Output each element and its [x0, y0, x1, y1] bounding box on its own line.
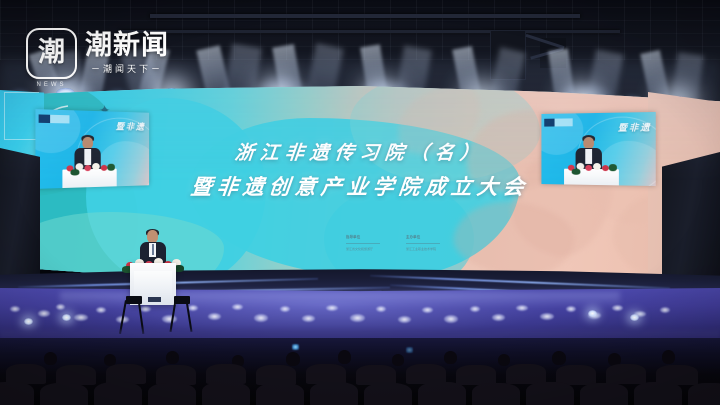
- feed-flower: [101, 165, 108, 171]
- audience-seat: [580, 383, 628, 405]
- audience-seat: [364, 383, 412, 405]
- audience-seat: [106, 364, 146, 384]
- lighting-truss-rear: [120, 30, 620, 33]
- feed-top-strip-accent: [544, 119, 554, 127]
- audience-seat: [0, 382, 34, 405]
- feed-flower: [602, 165, 609, 171]
- audience-seat: [418, 382, 466, 405]
- podium-front-face: [134, 271, 172, 299]
- chao-logo-icon: 潮 NEWS: [26, 28, 77, 79]
- speaker-tie: [152, 244, 155, 255]
- logo-glyph: 潮: [38, 39, 65, 66]
- audience-phone-screen: [406, 347, 413, 353]
- brand-title: 潮新闻: [85, 32, 169, 60]
- audience-head: [338, 350, 351, 364]
- camera-rig: [126, 296, 142, 304]
- audience-seat: [356, 365, 396, 385]
- feed-overlay-text: 暨非遗: [116, 120, 146, 133]
- feed-foliage: [70, 169, 79, 175]
- feed-flowers: [64, 161, 116, 176]
- audience-seat: [506, 364, 546, 384]
- credits-block: 指导单位 浙江省文化和旅游厅 主办单位 浙江工业职业技术学院: [346, 234, 440, 251]
- audience-seat: [256, 365, 296, 385]
- logo-news-label: NEWS: [28, 82, 75, 88]
- camera-rig: [174, 296, 190, 304]
- audience-head: [44, 352, 57, 365]
- audience-head: [662, 350, 675, 364]
- feed-flower: [84, 165, 91, 171]
- audience-head: [392, 354, 404, 366]
- feed-overlay-text: 暨非遗: [618, 120, 652, 134]
- audience-seat: [202, 382, 250, 405]
- feed-foliage: [572, 169, 581, 175]
- floor-uplight: [24, 318, 33, 325]
- audience-seat: [526, 382, 574, 405]
- audience-seat: [256, 383, 304, 405]
- audience-head: [166, 351, 179, 364]
- left-wall-frame: [4, 92, 39, 140]
- audience-phone-screen: [292, 344, 299, 350]
- audience-seat: [688, 383, 720, 405]
- credit-heading: 主办单位: [406, 234, 440, 239]
- audience-head: [444, 351, 457, 364]
- audience-head: [286, 352, 300, 366]
- feed-foliage: [107, 164, 114, 171]
- credit-body: 浙江工业职业技术学院: [406, 247, 440, 251]
- audience-seat: [148, 383, 196, 405]
- feed-flower: [92, 163, 100, 170]
- audience-seat: [6, 364, 46, 384]
- audience-seat: [94, 382, 142, 405]
- feed-flowers: [566, 161, 619, 175]
- right-side-screen: 暨非遗: [541, 112, 655, 186]
- watermark-text: 潮新闻 －潮闻天下－: [85, 32, 169, 75]
- feed-flower: [593, 163, 601, 170]
- feed-foliage: [609, 164, 617, 171]
- podium-nameplate: [148, 297, 161, 302]
- credit-column: 指导单位 浙江省文化和旅游厅: [346, 234, 380, 251]
- audience-head: [552, 351, 566, 365]
- credit-divider: [406, 243, 440, 244]
- left-side-screen: 暨非遗: [35, 109, 149, 189]
- audience-seat: [406, 364, 446, 384]
- audience-seat: [456, 365, 496, 385]
- brand-tagline: －潮闻天下－: [85, 62, 169, 75]
- floor-uplight: [62, 314, 71, 321]
- audience-seat: [306, 364, 346, 384]
- floor-uplight: [588, 310, 597, 317]
- credit-divider: [346, 243, 380, 244]
- audience-seat: [40, 383, 88, 405]
- channel-watermark: 潮 NEWS 潮新闻 －潮闻天下－: [26, 28, 169, 79]
- credit-body: 浙江省文化和旅游厅: [346, 247, 380, 251]
- conference-stage-photo: ✦ 浙江非遗传习院 浙江非遗传习院（名） 暨非遗创意产业学院成立大会 指导单位 …: [0, 0, 720, 405]
- audience-seat: [606, 364, 646, 384]
- audience-seat: [310, 382, 358, 405]
- feed-flower: [585, 165, 592, 171]
- lighting-truss-front: [150, 14, 580, 18]
- audience-seat: [634, 382, 682, 405]
- credit-heading: 指导单位: [346, 234, 380, 239]
- audience-seat: [156, 365, 196, 385]
- audience-seat: [206, 364, 246, 384]
- feed-top-strip-accent: [39, 114, 50, 123]
- audience-seating: [0, 338, 720, 405]
- audience-seat: [56, 365, 96, 385]
- left-stage-pillar: [0, 148, 40, 296]
- credit-column: 主办单位 浙江工业职业技术学院: [406, 234, 440, 251]
- floor-uplight: [630, 314, 639, 321]
- audience-head: [498, 354, 510, 366]
- audience-seat: [472, 383, 520, 405]
- truss-fixture-box: [490, 30, 526, 80]
